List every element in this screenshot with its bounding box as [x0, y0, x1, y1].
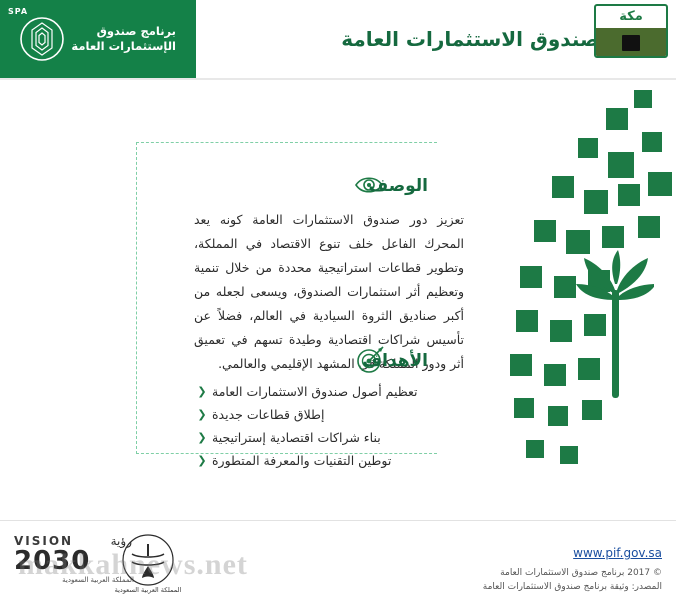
chevron-left-icon: ❮: [196, 431, 208, 444]
goal-label: بناء شراكات اقتصادية إستراتيجية: [212, 430, 381, 445]
watermark: makkahnews.net: [18, 548, 248, 582]
makkah-badge-image: [596, 28, 666, 56]
agency-name-label: برنامج صندوق الإستثمارات العامة: [71, 24, 176, 54]
spa-emblem-icon: [19, 16, 65, 62]
copyright-text: © 2017 برنامج صندوق الاستثمارات العامة: [500, 568, 662, 578]
website-link[interactable]: www.pif.gov.sa: [573, 546, 662, 560]
chevron-left-icon: ❮: [196, 385, 208, 398]
makkah-badge: مكة: [594, 4, 668, 58]
goal-label: تعظيم أصول صندوق الاستثمارات العامة: [212, 384, 418, 399]
agency-logo-panel: SPA برنامج صندوق الإستثمارات العامة: [0, 0, 196, 78]
goal-label: إطلاق قطاعات جديدة: [212, 407, 324, 422]
goals-list: ❮ تعظيم أصول صندوق الاستثمارات العامة ❮ …: [194, 380, 464, 472]
palm-tree-icon: [574, 250, 654, 400]
list-item: ❮ تعظيم أصول صندوق الاستثمارات العامة: [194, 380, 464, 403]
list-item: ❮ بناء شراكات اقتصادية إستراتيجية: [194, 426, 464, 449]
kaaba-icon: [622, 35, 640, 51]
goals-title: الأهداف: [362, 351, 428, 371]
chevron-left-icon: ❮: [196, 408, 208, 421]
agency-logo: برنامج صندوق الإستثمارات العامة: [14, 12, 184, 66]
description-title: الوصف: [368, 176, 428, 196]
decorative-mosaic: [456, 80, 676, 520]
emblem-caption: المملكة العربية السعودية: [108, 586, 188, 594]
page-header: SPA برنامج صندوق الإستثمارات العامة ج صن…: [0, 0, 676, 78]
goal-label: توطين التقنيات والمعرفة المتطورة: [212, 453, 391, 468]
source-text: المصدر: وثيقة برنامج صندوق الاستثمارات ا…: [483, 582, 662, 592]
main-content: الوصف تعزيز دور صندوق الاستثمارات العامة…: [0, 80, 676, 520]
list-item: ❮ إطلاق قطاعات جديدة: [194, 403, 464, 426]
makkah-badge-label: مكة: [596, 6, 666, 26]
list-item: ❮ توطين التقنيات والمعرفة المتطورة: [194, 449, 464, 472]
chevron-left-icon: ❮: [196, 454, 208, 467]
footer-divider: [0, 520, 676, 521]
